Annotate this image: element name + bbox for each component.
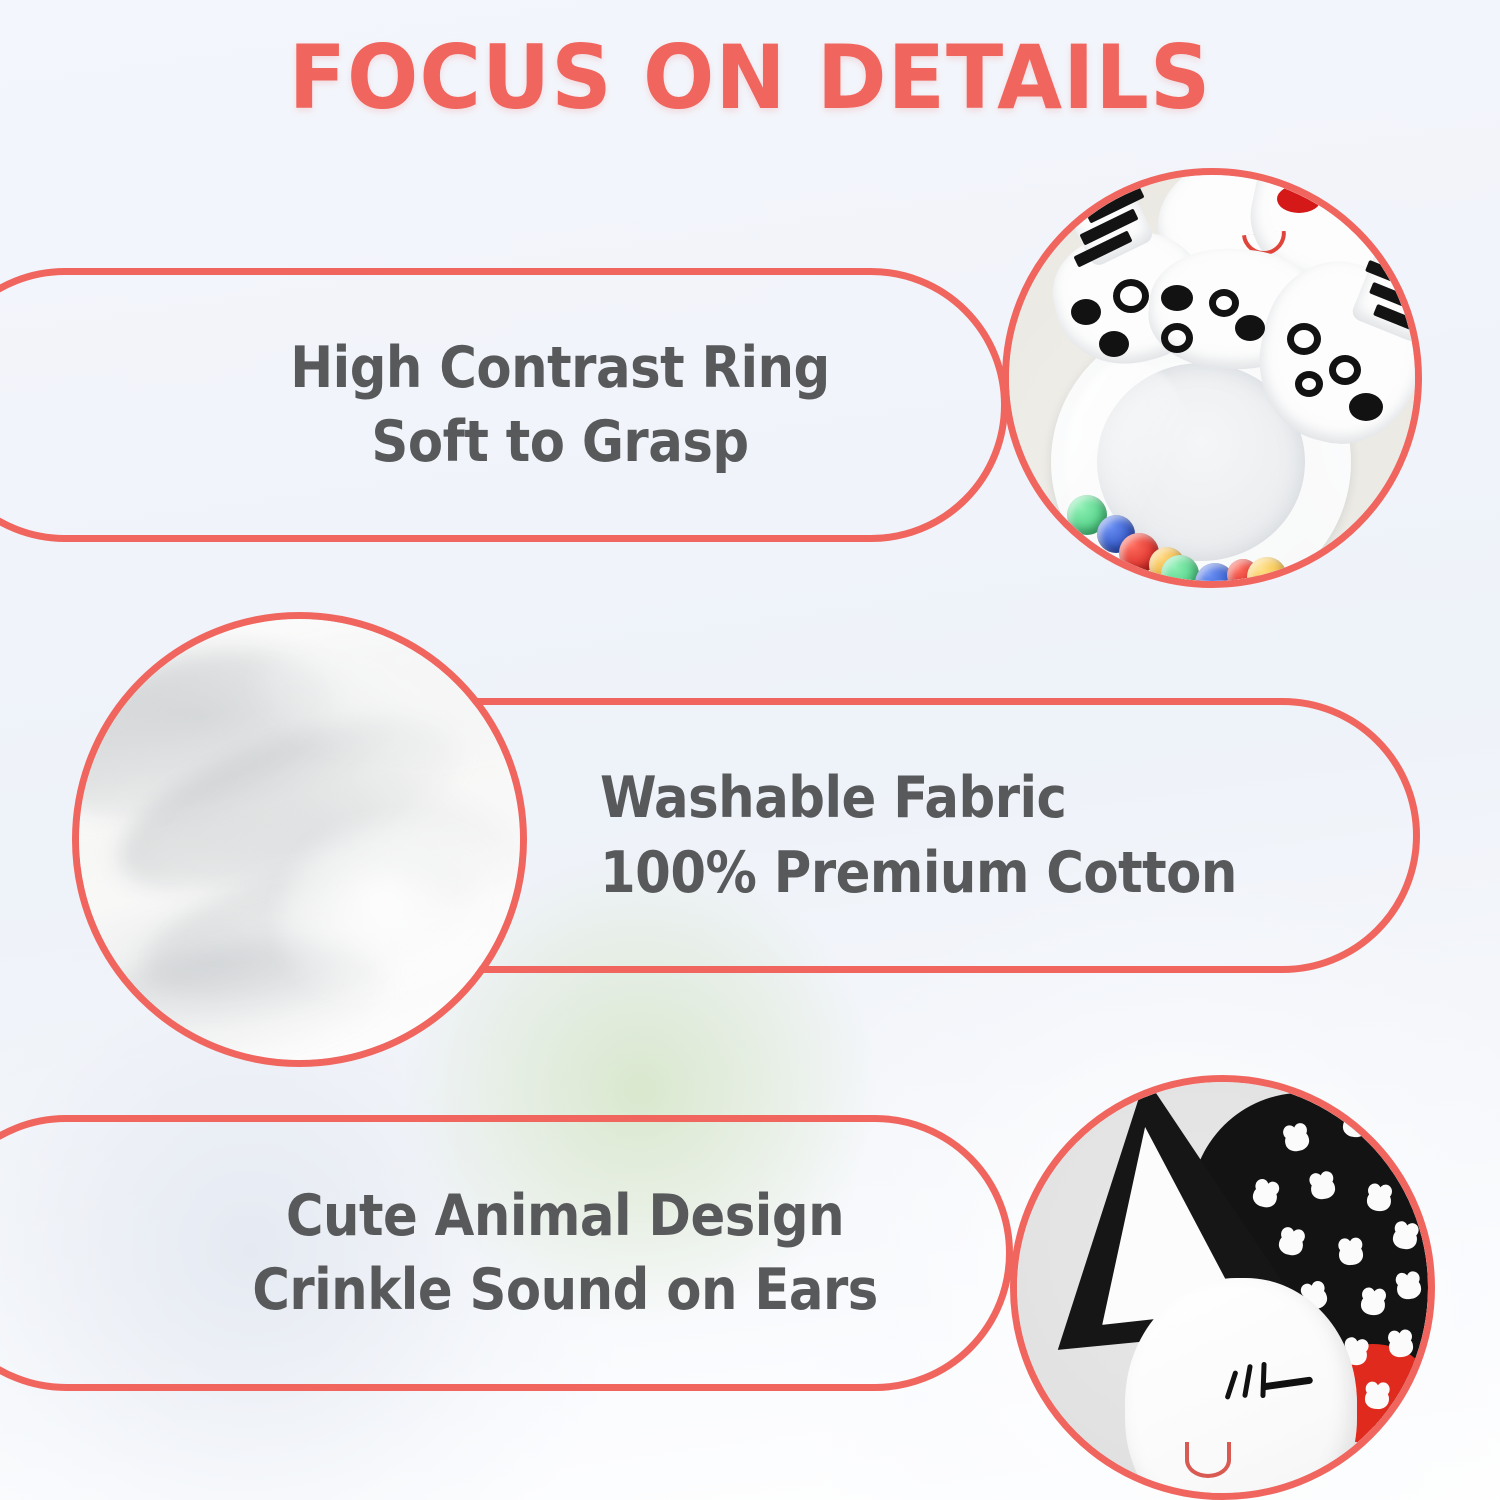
feature-image-rattle-ring bbox=[1002, 168, 1422, 588]
feature-image-cat-ear bbox=[1010, 1075, 1435, 1500]
page-title: FOCUS ON DETAILS bbox=[0, 34, 1500, 122]
feature-pill-high-contrast-ring bbox=[0, 268, 1008, 542]
infographic-canvas: FOCUS ON DETAILS High Contrast Ring Soft… bbox=[0, 0, 1500, 1500]
feature-image-soft-fabric bbox=[72, 612, 527, 1067]
feature-pill-cute-animal-design bbox=[0, 1115, 1013, 1391]
